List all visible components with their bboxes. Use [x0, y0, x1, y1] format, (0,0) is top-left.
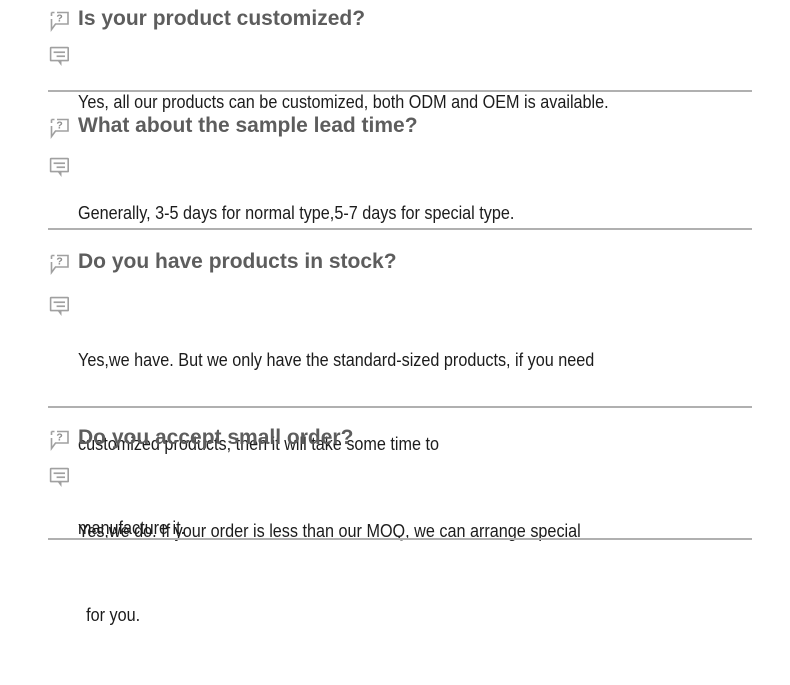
answer-bubble-icon — [48, 290, 78, 319]
faq-section: ? Is your product customized? Yes, all o… — [0, 0, 790, 625]
svg-text:?: ? — [56, 431, 62, 443]
faq-answer-text: Yes,we do. If your order is less than ou… — [78, 461, 581, 685]
svg-text:?: ? — [56, 12, 62, 24]
faq-answer-row-4: Yes,we do. If your order is less than ou… — [0, 461, 790, 685]
faq-question-row-2: ? What about the sample lead time? — [0, 113, 790, 141]
answer-line: Yes,we have. But we only have the standa… — [78, 346, 594, 374]
question-bubble-icon: ? — [48, 113, 78, 141]
faq-divider — [48, 538, 752, 540]
answer-bubble-icon — [48, 151, 78, 180]
faq-divider — [48, 228, 752, 230]
svg-text:?: ? — [56, 255, 62, 267]
answer-bubble-icon — [48, 461, 78, 490]
question-bubble-icon: ? — [48, 425, 78, 453]
faq-divider — [48, 90, 752, 92]
faq-question-text: Do you accept small order? — [78, 425, 353, 451]
faq-question-text: Is your product customized? — [78, 6, 365, 32]
faq-item-4: ? Do you accept small order? Yes,we do. … — [0, 425, 790, 685]
faq-question-row-3: ? Do you have products in stock? — [0, 249, 790, 277]
faq-question-row-1: ? Is your product customized? — [0, 6, 790, 34]
answer-line: Yes,we do. If your order is less than ou… — [78, 517, 581, 545]
question-bubble-icon: ? — [48, 6, 78, 34]
faq-question-row-4: ? Do you accept small order? — [0, 425, 790, 453]
answer-bubble-icon — [48, 40, 78, 69]
faq-question-text: Do you have products in stock? — [78, 249, 397, 275]
faq-question-text: What about the sample lead time? — [78, 113, 418, 139]
faq-divider — [48, 406, 752, 408]
answer-line: Yes, all our products can be customized,… — [78, 90, 609, 115]
answer-line: Generally, 3-5 days for normal type,5-7 … — [78, 201, 514, 226]
question-bubble-icon: ? — [48, 249, 78, 277]
svg-text:?: ? — [56, 119, 62, 131]
